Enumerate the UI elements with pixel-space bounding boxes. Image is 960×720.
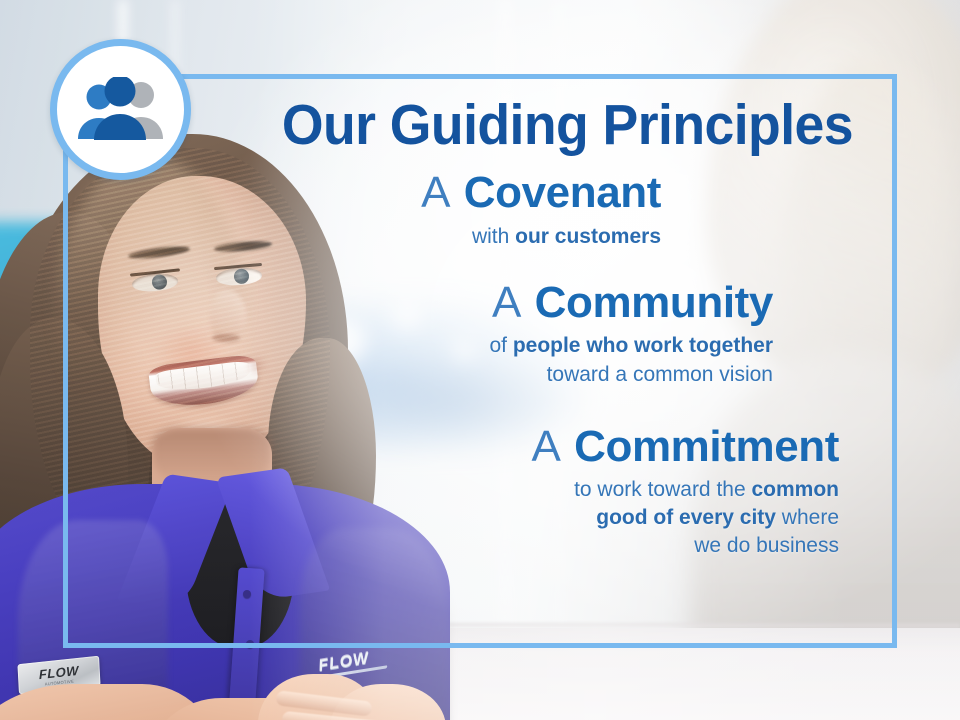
principle-community: A Community of people who work together … xyxy=(63,279,853,389)
principle-line: of people who work together xyxy=(489,334,773,357)
principle-word: Commitment xyxy=(574,422,839,471)
principle-line: toward a common vision xyxy=(547,363,773,386)
page-title: Our Guiding Principles xyxy=(110,96,853,155)
principle-line: good of every city where xyxy=(596,506,839,529)
regular-text: where xyxy=(776,506,839,529)
principle-commitment: A Commitment to work toward the common g… xyxy=(63,423,853,561)
principle-article: A xyxy=(492,278,522,327)
principle-word: Covenant xyxy=(464,168,661,217)
emphasis-text: good of every city xyxy=(596,506,776,529)
principle-body: with our customers xyxy=(63,223,661,251)
principle-covenant: A Covenant with our customers xyxy=(63,169,853,251)
emphasis-text: our customers xyxy=(515,225,661,248)
principle-article: A xyxy=(421,168,451,217)
principle-heading: A Covenant xyxy=(63,169,661,217)
principle-line: with our customers xyxy=(472,225,661,248)
regular-text: with xyxy=(472,225,515,248)
principle-heading: A Commitment xyxy=(63,423,839,471)
principle-heading: A Community xyxy=(63,279,773,327)
emphasis-text: people who work together xyxy=(513,334,773,357)
poster-text: Our Guiding Principles A Covenant with o… xyxy=(63,74,897,648)
emphasis-text: common xyxy=(751,478,839,501)
principle-word: Community xyxy=(535,278,773,327)
principle-body: of people who work together toward a com… xyxy=(63,332,773,388)
principle-body: to work toward the common good of every … xyxy=(63,476,839,560)
regular-text: we do business xyxy=(694,534,839,557)
regular-text: to work toward the xyxy=(574,478,751,501)
poster-canvas: FLOW AUTOMOTIVE FLOW xyxy=(0,0,960,720)
principle-line: to work toward the common xyxy=(574,478,839,501)
principle-line: we do business xyxy=(694,534,839,557)
principle-article: A xyxy=(532,422,562,471)
regular-text: toward a common vision xyxy=(547,363,773,386)
regular-text: of xyxy=(489,334,512,357)
